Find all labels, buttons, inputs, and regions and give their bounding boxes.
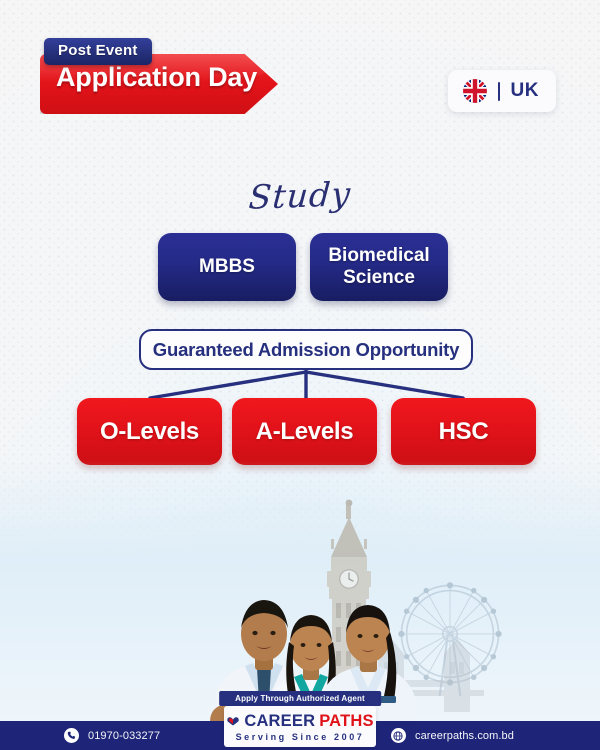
- qualification-node-hsc-label: HSC: [439, 418, 489, 446]
- logo-career-text: CAREER: [244, 712, 315, 731]
- guaranteed-admission-label: Guaranteed Admission Opportunity: [153, 339, 459, 361]
- contact-phone[interactable]: 01970-033277: [64, 728, 160, 743]
- guaranteed-admission-node[interactable]: Guaranteed Admission Opportunity: [139, 329, 473, 370]
- globe-icon: [391, 728, 406, 743]
- qualification-node-o-levels[interactable]: O-Levels: [77, 398, 222, 465]
- program-node-biomedical-science-label: BiomedicalScience: [320, 245, 437, 290]
- contact-website[interactable]: careerpaths.com.bd: [391, 728, 514, 743]
- qualification-node-hsc[interactable]: HSC: [391, 398, 536, 465]
- contact-phone-text: 01970-033277: [88, 730, 160, 742]
- logo-wordmark: CAREER PATHS: [228, 712, 372, 731]
- contact-website-text: careerpaths.com.bd: [415, 730, 514, 742]
- career-paths-logo[interactable]: CAREER PATHS Serving Since 2007: [224, 706, 376, 747]
- ribbon-tag: Post Event: [44, 38, 152, 65]
- authorized-agent-banner: Apply Through Authorized Agent: [219, 691, 381, 707]
- program-node-mbbs-label: MBBS: [191, 256, 263, 278]
- qualification-node-a-levels-label: A-Levels: [256, 418, 354, 446]
- program-node-mbbs[interactable]: MBBS: [158, 233, 296, 301]
- poster-canvas: Post Event Application Day UK Study: [0, 0, 600, 750]
- butterfly-mark-icon: [226, 716, 240, 728]
- qualification-node-o-levels-label: O-Levels: [100, 418, 199, 446]
- qualification-node-a-levels[interactable]: A-Levels: [232, 398, 377, 465]
- logo-paths-text: PATHS: [319, 712, 373, 731]
- phone-icon: [64, 728, 79, 743]
- logo-tagline: Serving Since 2007: [228, 732, 372, 742]
- ribbon-tag-label: Post Event: [58, 42, 138, 59]
- program-node-biomedical-science[interactable]: BiomedicalScience: [310, 233, 448, 301]
- ribbon-title: Application Day: [56, 62, 257, 93]
